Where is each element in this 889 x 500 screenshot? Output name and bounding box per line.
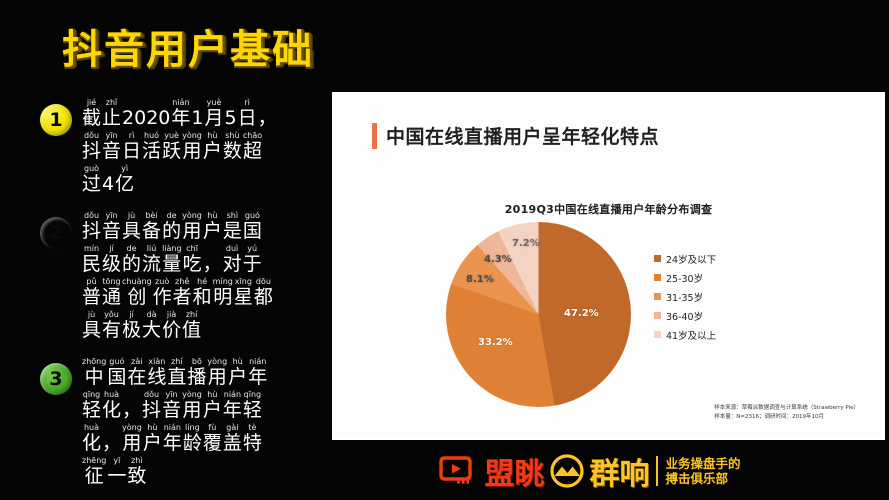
ruby-cell: zhōng中 bbox=[82, 357, 106, 388]
pie-slice-label: 8.1% bbox=[466, 274, 494, 285]
ruby-cell: jù具 bbox=[82, 310, 101, 341]
chart-panel: 中国在线直播用户呈年轻化特点 2019Q3中国在线直播用户年龄分布调查 47.2… bbox=[332, 92, 885, 440]
legend-label: 36-40岁 bbox=[666, 309, 703, 323]
hanzi-character: 超 bbox=[243, 141, 262, 162]
hanzi-character: 流 bbox=[142, 254, 161, 275]
chart-panel-inner: 中国在线直播用户呈年轻化特点 2019Q3中国在线直播用户年龄分布调查 47.2… bbox=[336, 96, 881, 436]
legend-swatch bbox=[654, 312, 661, 319]
hanzi-character: 用 bbox=[208, 367, 227, 388]
ruby-cell: de的 bbox=[122, 244, 141, 275]
hanzi-character: 音 bbox=[102, 141, 121, 162]
hanzi-character: 吃 bbox=[183, 254, 202, 275]
hanzi-character: 4 bbox=[102, 174, 114, 195]
legend-item: 25-30岁 bbox=[654, 269, 716, 286]
ruby-cell: bèi备 bbox=[142, 211, 161, 242]
hanzi-character: 年 bbox=[171, 108, 190, 129]
ruby-cell: ， bbox=[258, 98, 277, 129]
ruby-cell: xiàn线 bbox=[147, 357, 166, 388]
hanzi-character: 播 bbox=[187, 367, 206, 388]
tagline: 业务操盘手的 搏击俱乐部 bbox=[665, 456, 740, 486]
ruby-cell: zhǐ止 bbox=[102, 98, 121, 129]
ruby-cell: zhí值 bbox=[182, 310, 201, 341]
tagline-line-1: 业务操盘手的 bbox=[665, 456, 740, 471]
accent-bar bbox=[372, 123, 377, 149]
ruby-cell: zài在 bbox=[127, 357, 146, 388]
hanzi-character: 抖 bbox=[82, 141, 101, 162]
pie-slice-label: 33.2% bbox=[478, 337, 513, 348]
ruby-cell: chī吃 bbox=[183, 244, 202, 275]
hanzi-character: 极 bbox=[122, 320, 141, 341]
bullet-number-badge: 1 bbox=[40, 104, 72, 136]
video-play-screen-icon bbox=[438, 455, 478, 487]
bullet-text-block: dǒu抖yīn音jù具bèi备de的yòng用hù户shì是guó国mín民jí… bbox=[82, 209, 320, 341]
hanzi-character: 值 bbox=[182, 320, 201, 341]
legend-item: 36-40岁 bbox=[654, 307, 716, 324]
bullet-text-line: zhōng中guó国zài在xiàn线zhí直bō播yòng用hù户nián年 bbox=[82, 355, 320, 388]
pie-slice-label: 7.2% bbox=[512, 238, 540, 249]
ruby-cell: jí极 bbox=[122, 310, 141, 341]
legend-swatch bbox=[654, 255, 661, 262]
legend-label: 31-35岁 bbox=[666, 290, 703, 304]
bullet-text-block: jié截zhǐ止2020nián年1yuè月5rì日，dǒu抖yīn音rì日hu… bbox=[82, 96, 320, 195]
ruby-cell: dǒu抖 bbox=[82, 211, 101, 242]
ruby-cell: dǒu抖 bbox=[142, 390, 161, 421]
ruby-cell: shù数 bbox=[223, 131, 242, 162]
ruby-cell: zhí直 bbox=[167, 357, 186, 388]
hanzi-character: ， bbox=[122, 400, 141, 421]
bullet-text-line: mín民jí级de的liú流liàng量chī吃，duì对yú于 bbox=[82, 242, 320, 275]
ruby-cell: qīng轻 bbox=[82, 390, 101, 421]
ruby-cell: jié截 bbox=[82, 98, 101, 129]
legend-label: 41岁及以上 bbox=[666, 328, 716, 342]
hanzi-character: 明 bbox=[213, 287, 232, 308]
legend-label: 24岁及以下 bbox=[666, 252, 716, 266]
ruby-cell: xīng星 bbox=[234, 277, 253, 308]
legend-item: 24岁及以下 bbox=[654, 250, 716, 267]
bullet-number-badge: 2 bbox=[40, 217, 72, 249]
hanzi-character: 普 bbox=[82, 287, 101, 308]
hanzi-character: 数 bbox=[223, 141, 242, 162]
hanzi-character: 具 bbox=[82, 320, 101, 341]
bullet-text-line: qīng轻huà化，dǒu抖yīn音yòng用hù户nián年qīng轻 bbox=[82, 388, 320, 421]
chart-source-note: 样本来源：草莓派数据调查与计算系统（Strawberry Pie） 样本量：N=… bbox=[714, 404, 859, 422]
ruby-cell: hé和 bbox=[193, 277, 212, 308]
ruby-cell: guó国 bbox=[107, 357, 126, 388]
bullet-text-line: jù具yǒu有jí极dà大jià价zhí值 bbox=[82, 308, 320, 341]
hanzi-character: 户 bbox=[203, 221, 222, 242]
hanzi-character: 音 bbox=[162, 400, 181, 421]
ruby-cell: tōng通 bbox=[102, 277, 121, 308]
ruby-cell: huà化 bbox=[102, 390, 121, 421]
hanzi-character: 级 bbox=[102, 254, 121, 275]
ruby-cell: hù户 bbox=[203, 131, 222, 162]
hanzi-character: 的 bbox=[122, 254, 141, 275]
hanzi-character: 年 bbox=[248, 367, 267, 388]
ruby-cell: yīn音 bbox=[102, 131, 121, 162]
pie-chart bbox=[446, 222, 631, 407]
hanzi-character: 过 bbox=[82, 174, 101, 195]
ruby-cell: yuè跃 bbox=[162, 131, 181, 162]
hanzi-character: 在 bbox=[127, 367, 146, 388]
hanzi-character: 直 bbox=[167, 367, 186, 388]
hanzi-character: 截 bbox=[82, 108, 101, 129]
hanzi-character: 国 bbox=[107, 367, 126, 388]
ruby-cell: 2020 bbox=[122, 98, 170, 129]
bullet-list: 1jié截zhǐ止2020nián年1yuè月5rì日，dǒu抖yīn音rì日h… bbox=[40, 96, 320, 500]
ruby-cell: chāo超 bbox=[243, 131, 262, 162]
hanzi-character: 备 bbox=[142, 221, 161, 242]
ruby-cell: yǒu有 bbox=[102, 310, 121, 341]
ruby-cell: shì是 bbox=[223, 211, 242, 242]
hanzi-character: 轻 bbox=[243, 400, 262, 421]
ruby-cell: qīng轻 bbox=[243, 390, 262, 421]
hanzi-character: 者 bbox=[173, 287, 192, 308]
ruby-cell: jí级 bbox=[102, 244, 121, 275]
ruby-cell: hù户 bbox=[228, 357, 247, 388]
ruby-cell: nián年 bbox=[248, 357, 267, 388]
ruby-cell: nián年 bbox=[171, 98, 190, 129]
legend-swatch bbox=[654, 274, 661, 281]
page-title: 抖音用户基础 bbox=[62, 17, 314, 75]
ruby-cell: yòng用 bbox=[182, 131, 202, 162]
ruby-cell: chuàng创 bbox=[122, 277, 152, 308]
legend-swatch bbox=[654, 331, 661, 338]
chart-title: 2019Q3中国在线直播用户年龄分布调查 bbox=[336, 201, 881, 217]
chart-panel-header: 中国在线直播用户呈年轻化特点 bbox=[372, 122, 659, 149]
hanzi-character: 星 bbox=[234, 287, 253, 308]
ruby-cell: 4 bbox=[102, 164, 114, 195]
hanzi-character: 音 bbox=[102, 221, 121, 242]
source-line: 样本来源：草莓派数据调查与计算系统（Strawberry Pie） bbox=[714, 404, 859, 413]
ruby-cell: hù户 bbox=[203, 211, 222, 242]
hanzi-character: 亿 bbox=[115, 174, 134, 195]
hanzi-character: 抖 bbox=[82, 221, 101, 242]
ruby-cell: guò过 bbox=[82, 164, 101, 195]
ruby-cell: dǒu抖 bbox=[82, 131, 101, 162]
ruby-cell: rì日 bbox=[122, 131, 141, 162]
legend-item: 31-35岁 bbox=[654, 288, 716, 305]
hanzi-character: 月 bbox=[205, 108, 224, 129]
hanzi-character: 1 bbox=[191, 108, 203, 129]
hanzi-character: 日 bbox=[238, 108, 257, 129]
logo-row: 盟眺 群响 业务操盘手的 搏击俱乐部 bbox=[438, 449, 740, 493]
hanzi-character: 止 bbox=[102, 108, 121, 129]
hanzi-character: 年 bbox=[223, 400, 242, 421]
hanzi-character: 都 bbox=[254, 287, 273, 308]
hanzi-character: 中 bbox=[85, 367, 104, 388]
bullet-text-line: dǒu抖yīn音jù具bèi备de的yòng用hù户shì是guó国 bbox=[82, 209, 320, 242]
hanzi-character: 日 bbox=[122, 141, 141, 162]
hanzi-character: ， bbox=[203, 254, 222, 275]
hanzi-character: 通 bbox=[102, 287, 121, 308]
brand-qunxiang-text: 群响 bbox=[589, 449, 649, 493]
bullet-text-line: dǒu抖yīn音rì日huó活yuè跃yòng用hù户shù数chāo超 bbox=[82, 129, 320, 162]
ruby-cell: dōu都 bbox=[254, 277, 273, 308]
bullet-text-line: jié截zhǐ止2020nián年1yuè月5rì日， bbox=[82, 96, 320, 129]
ruby-cell: yīn音 bbox=[162, 390, 181, 421]
ruby-cell: zhě者 bbox=[173, 277, 192, 308]
ruby-cell: ， bbox=[122, 390, 141, 421]
ruby-cell: jià价 bbox=[162, 310, 181, 341]
bullet-item: 1jié截zhǐ止2020nián年1yuè月5rì日，dǒu抖yīn音rì日h… bbox=[40, 96, 320, 195]
ruby-cell: yòng用 bbox=[207, 357, 227, 388]
ruby-cell: rì日 bbox=[238, 98, 257, 129]
ruby-cell: huó活 bbox=[142, 131, 161, 162]
ruby-cell: dà大 bbox=[142, 310, 161, 341]
hanzi-character: 于 bbox=[243, 254, 262, 275]
hanzi-character: 和 bbox=[193, 287, 212, 308]
ruby-cell: yú于 bbox=[243, 244, 262, 275]
hanzi-character: 国 bbox=[243, 221, 262, 242]
hanzi-character: 有 bbox=[102, 320, 121, 341]
ruby-cell: jù具 bbox=[122, 211, 141, 242]
ruby-cell: yòng用 bbox=[182, 211, 202, 242]
hanzi-character: 户 bbox=[228, 367, 247, 388]
bullet-text-line: pǔ普tōng通chuàng创zuò作zhě者hé和míng明xīng星dōu都 bbox=[82, 275, 320, 308]
source-line: 样本量：N=2316；调研时间：2019年10月 bbox=[714, 413, 859, 422]
hanzi-character: 活 bbox=[142, 141, 161, 162]
hanzi-character: 用 bbox=[182, 400, 201, 421]
hanzi-character: 户 bbox=[203, 141, 222, 162]
brand-mengtiao-text: 盟眺 bbox=[484, 449, 544, 493]
hanzi-character: 化 bbox=[102, 400, 121, 421]
hanzi-character: ， bbox=[258, 108, 277, 129]
hanzi-character: 的 bbox=[162, 221, 181, 242]
legend-item: 41岁及以上 bbox=[654, 326, 716, 343]
ruby-cell: ， bbox=[203, 244, 222, 275]
chart-area: 47.2% 33.2% 8.1% 4.3% 7.2% 24岁及以下25-30岁3… bbox=[336, 220, 881, 410]
hanzi-character: 是 bbox=[223, 221, 242, 242]
ruby-cell: guó国 bbox=[243, 211, 262, 242]
footer-logo-bar: 盟眺 群响 业务操盘手的 搏击俱乐部 bbox=[0, 442, 889, 500]
hanzi-character: 作 bbox=[153, 287, 172, 308]
ruby-cell: 5 bbox=[225, 98, 237, 129]
hanzi-character: 5 bbox=[225, 108, 237, 129]
bullet-text-line: guò过4yì亿 bbox=[82, 162, 320, 195]
ruby-cell: pǔ普 bbox=[82, 277, 101, 308]
ruby-cell: hù户 bbox=[203, 390, 222, 421]
hanzi-character: 用 bbox=[182, 221, 201, 242]
legend-label: 25-30岁 bbox=[666, 271, 703, 285]
ruby-cell: 1 bbox=[191, 98, 203, 129]
ruby-cell: míng明 bbox=[213, 277, 233, 308]
chart-legend: 24岁及以下25-30岁31-35岁36-40岁41岁及以上 bbox=[654, 250, 716, 345]
ruby-cell: de的 bbox=[162, 211, 181, 242]
hanzi-character: 大 bbox=[142, 320, 161, 341]
hanzi-character: 具 bbox=[122, 221, 141, 242]
ruby-cell: liàng量 bbox=[162, 244, 182, 275]
hanzi-character: 对 bbox=[223, 254, 242, 275]
ruby-cell: yīn音 bbox=[102, 211, 121, 242]
ruby-cell: yuè月 bbox=[205, 98, 224, 129]
ruby-cell: zuò作 bbox=[153, 277, 172, 308]
ruby-cell: liú流 bbox=[142, 244, 161, 275]
ruby-cell: nián年 bbox=[223, 390, 242, 421]
ruby-cell: bō播 bbox=[187, 357, 206, 388]
ruby-cell: duì对 bbox=[223, 244, 242, 275]
pie-slice-label: 47.2% bbox=[564, 308, 599, 319]
hanzi-character: 创 bbox=[127, 287, 146, 308]
hanzi-character: 2020 bbox=[122, 108, 170, 129]
bullet-item: 2dǒu抖yīn音jù具bèi备de的yòng用hù户shì是guó国mín民j… bbox=[40, 209, 320, 341]
ruby-cell: yòng用 bbox=[182, 390, 202, 421]
ruby-cell: mín民 bbox=[82, 244, 101, 275]
pie-slice-label: 4.3% bbox=[484, 254, 512, 265]
hanzi-character: 抖 bbox=[142, 400, 161, 421]
ruby-cell: yì亿 bbox=[115, 164, 134, 195]
hanzi-character: 量 bbox=[162, 254, 181, 275]
hanzi-character: 跃 bbox=[162, 141, 181, 162]
hanzi-character: 民 bbox=[82, 254, 101, 275]
chart-panel-title: 中国在线直播用户呈年轻化特点 bbox=[386, 122, 659, 149]
hanzi-character: 户 bbox=[203, 400, 222, 421]
hanzi-character: 用 bbox=[182, 141, 201, 162]
legend-swatch bbox=[654, 293, 661, 300]
slide-root: 抖音用户基础 1jié截zhǐ止2020nián年1yuè月5rì日，dǒu抖y… bbox=[0, 0, 889, 500]
hanzi-character: 价 bbox=[162, 320, 181, 341]
bullet-number-badge: 3 bbox=[40, 363, 72, 395]
mountain-circle-icon bbox=[550, 454, 584, 488]
tagline-line-2: 搏击俱乐部 bbox=[665, 471, 740, 486]
divider bbox=[656, 456, 658, 486]
hanzi-character: 线 bbox=[147, 367, 166, 388]
hanzi-character: 轻 bbox=[82, 400, 101, 421]
